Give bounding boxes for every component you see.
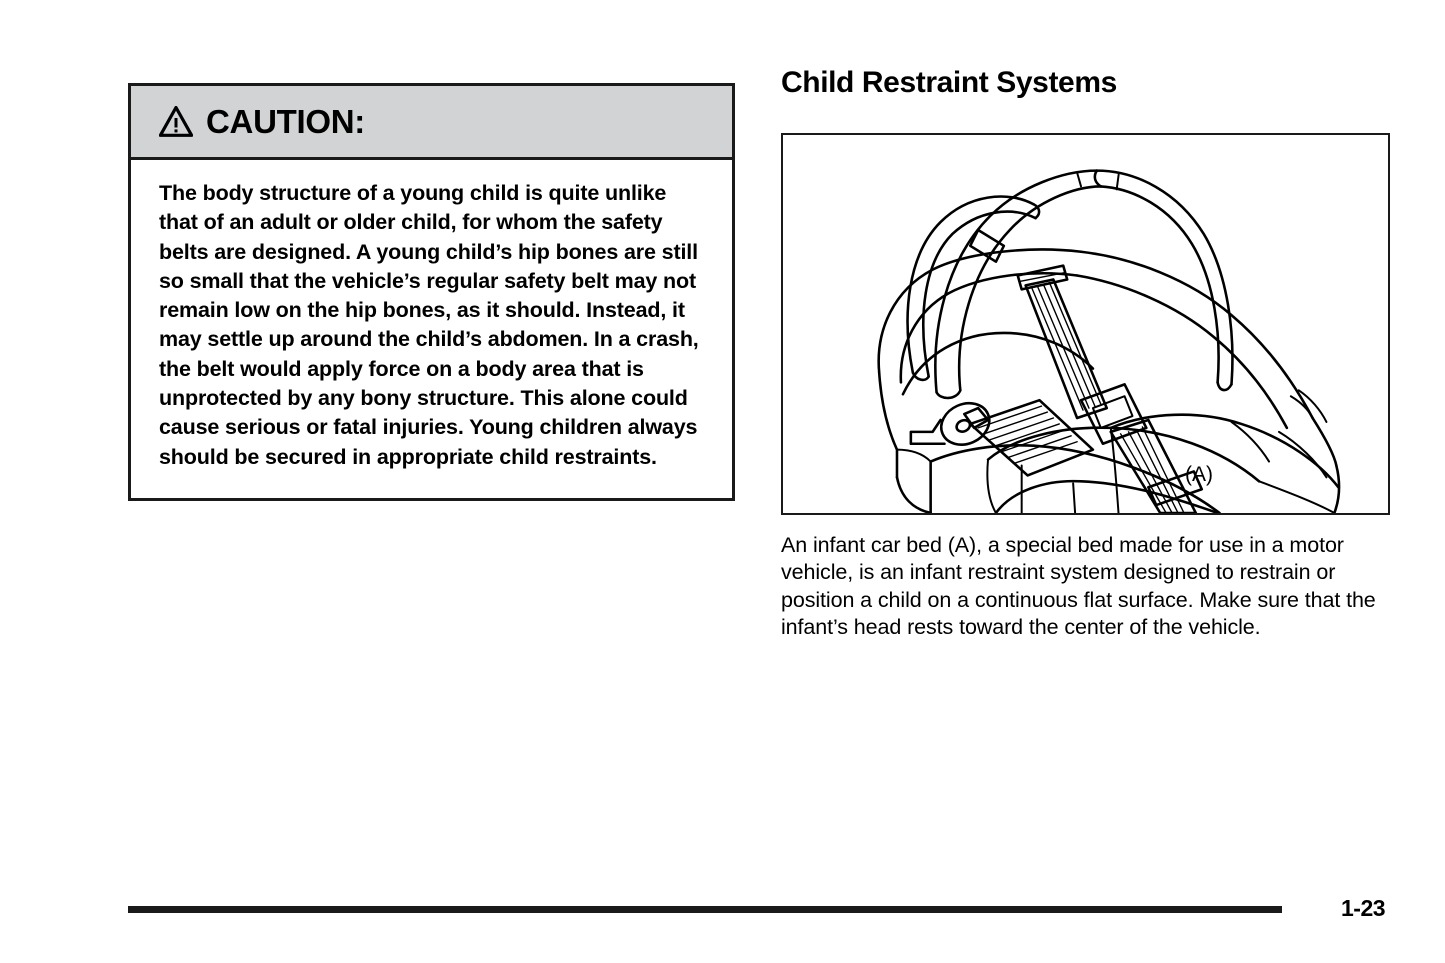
warning-triangle-icon (159, 106, 193, 137)
infant-car-bed-illustration (783, 135, 1388, 513)
section-body-text: An infant car bed (A), a special bed mad… (781, 532, 1381, 641)
section-header-container: Child Restraint Systems (781, 65, 1391, 101)
caution-title: CAUTION: (206, 105, 365, 138)
figure-callout-a: (A) (1185, 464, 1213, 485)
caution-box: CAUTION: The body structure of a young c… (128, 83, 735, 501)
footer-divider (128, 906, 1282, 913)
caution-body: The body structure of a young child is q… (131, 160, 732, 498)
caution-body-text: The body structure of a young child is q… (159, 179, 704, 472)
caution-header: CAUTION: (131, 86, 732, 160)
page-title: Child Restraint Systems (781, 65, 1391, 101)
infant-car-bed-figure (781, 133, 1390, 515)
page-number: 1-23 (1341, 897, 1385, 920)
